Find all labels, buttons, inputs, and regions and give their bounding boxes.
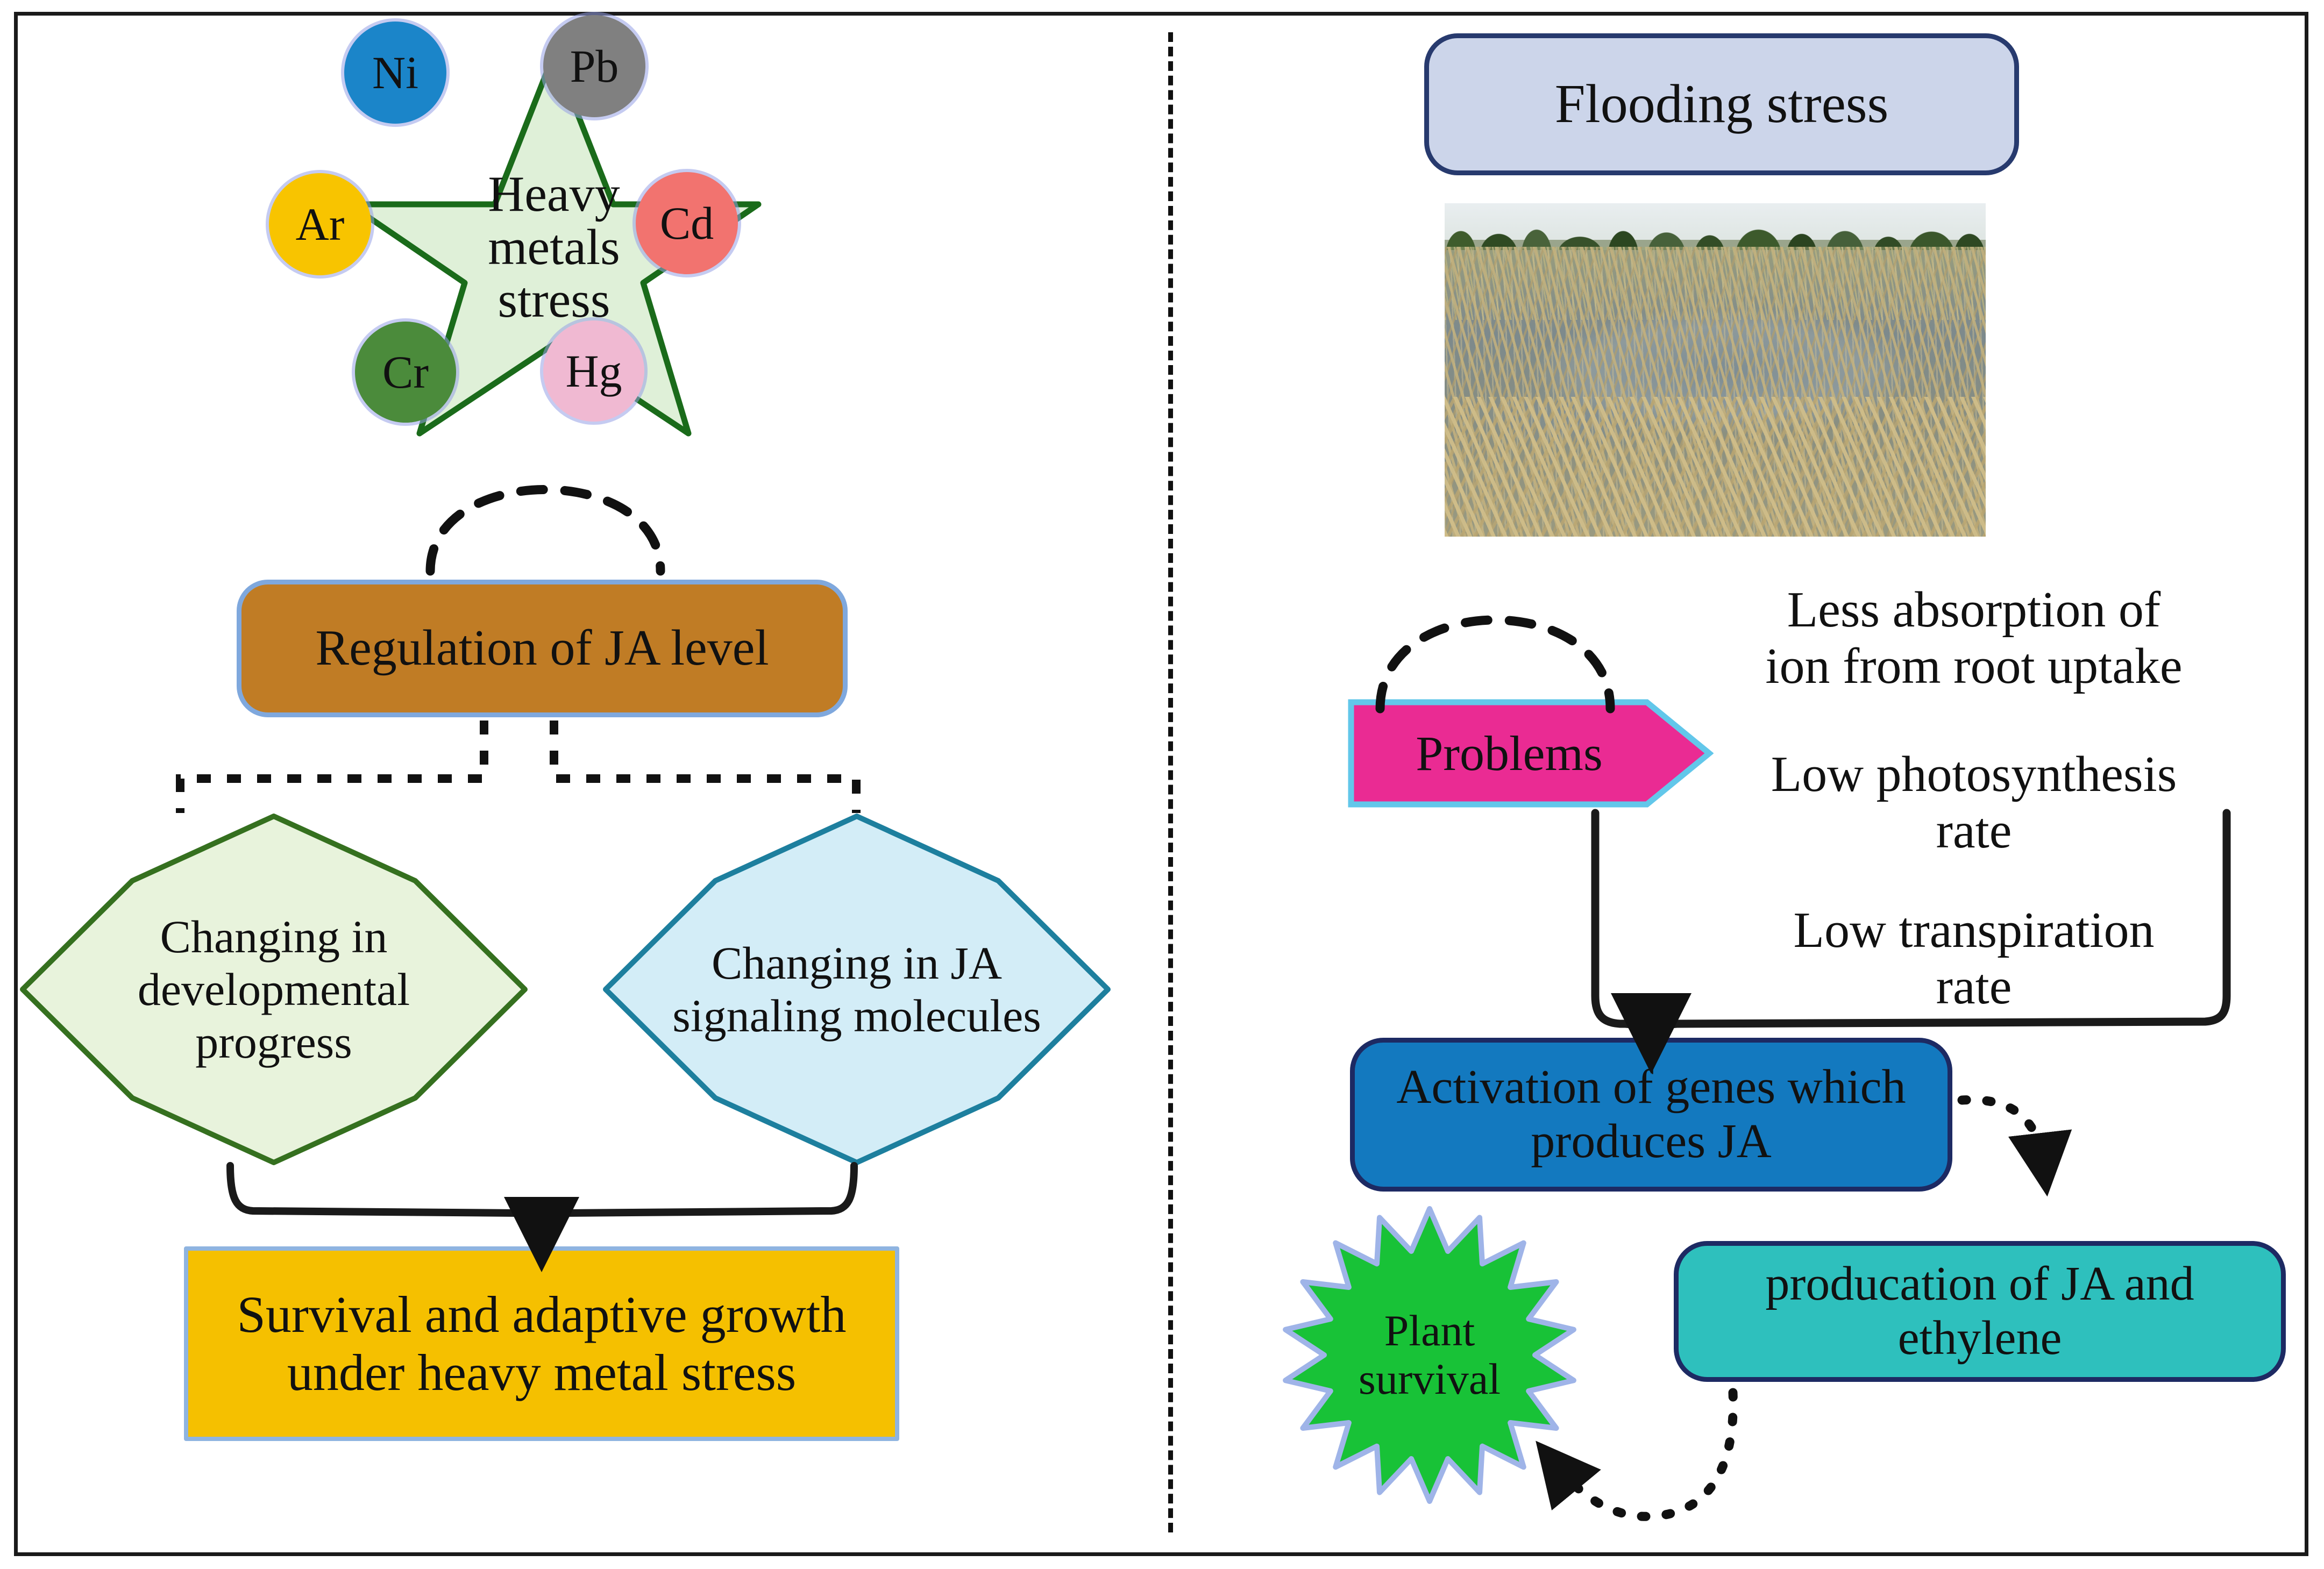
pentagon-arrow-polygon: [1351, 702, 1709, 804]
metal-badge-hg: Hg: [543, 320, 644, 422]
problem-item-2: Low photosynthesis rate: [1732, 746, 2216, 860]
metal-symbol-pb: Pb: [570, 43, 619, 89]
activation-line-2: produces JA: [1531, 1115, 1771, 1169]
pentagon-arrow-shape: [1348, 699, 1714, 808]
metal-badge-pb: Pb: [543, 15, 645, 117]
survival-adaptive-growth-box: Survival and adaptive growth under heavy…: [184, 1246, 899, 1441]
plant-survival-starburst: Plant survival: [1279, 1204, 1580, 1506]
problem-3-line-2: rate: [1732, 959, 2216, 1015]
outcome-label-line-1: Survival and adaptive growth: [237, 1286, 846, 1344]
metal-badge-ni: Ni: [344, 22, 446, 124]
metal-symbol-cd: Cd: [660, 200, 714, 246]
changing-ja-signaling-node: Changing in JA signaling molecules: [601, 812, 1112, 1167]
problem-3-line-1: Low transpiration: [1732, 902, 2216, 959]
problem-item-3: Low transpiration rate: [1732, 902, 2216, 1016]
outcome-label-line-2: under heavy metal stress: [287, 1344, 796, 1402]
starburst-shape: [1279, 1204, 1580, 1506]
metal-badge-ar: Ar: [269, 173, 371, 275]
metal-symbol-cr: Cr: [382, 349, 429, 395]
activation-line-1: Activation of genes which: [1396, 1060, 1906, 1115]
panel-divider: [1168, 32, 1173, 1532]
starburst-polygon: [1285, 1209, 1574, 1501]
flooded-field-photo: [1445, 203, 1986, 537]
activation-of-genes-box: Activation of genes which produces JA: [1350, 1038, 1952, 1192]
metal-symbol-ni: Ni: [372, 49, 418, 96]
problem-item-1: Less absorption of ion from root uptake: [1732, 582, 2216, 695]
production-line-2: ethylene: [1898, 1311, 2062, 1366]
problem-1-line-2: ion from root uptake: [1732, 638, 2216, 695]
problem-1-line-1: Less absorption of: [1732, 582, 2216, 638]
production-line-1: producation of JA and: [1765, 1257, 2194, 1311]
octagon-shape-dev: [18, 812, 529, 1167]
figure-canvas: Heavy metals stress Ni Pb Ar Cd Cr Hg Re…: [0, 0, 2324, 1569]
metal-symbol-ar: Ar: [296, 201, 345, 247]
regulation-label: Regulation of JA level: [315, 620, 769, 676]
metal-symbol-hg: Hg: [565, 348, 622, 394]
flooding-stress-label: Flooding stress: [1555, 74, 1889, 135]
photo-debris-specks: [1445, 247, 1986, 537]
flooding-stress-title-box: Flooding stress: [1424, 33, 2019, 175]
production-of-ja-ethylene-box: producation of JA and ethylene: [1674, 1241, 2286, 1382]
regulation-of-ja-level-box: Regulation of JA level: [237, 580, 848, 717]
problem-2-line-2: rate: [1732, 803, 2216, 859]
metal-badge-cr: Cr: [355, 322, 456, 423]
metal-badge-cd: Cd: [636, 172, 738, 274]
octagon-polygon-dev: [23, 816, 525, 1163]
changing-developmental-progress-node: Changing in developmental progress: [18, 812, 529, 1167]
problem-2-line-1: Low photosynthesis: [1732, 746, 2216, 803]
problems-arrow-tag: Problems: [1348, 699, 1714, 808]
octagon-polygon-ja: [606, 816, 1108, 1163]
octagon-shape-ja: [601, 812, 1112, 1167]
